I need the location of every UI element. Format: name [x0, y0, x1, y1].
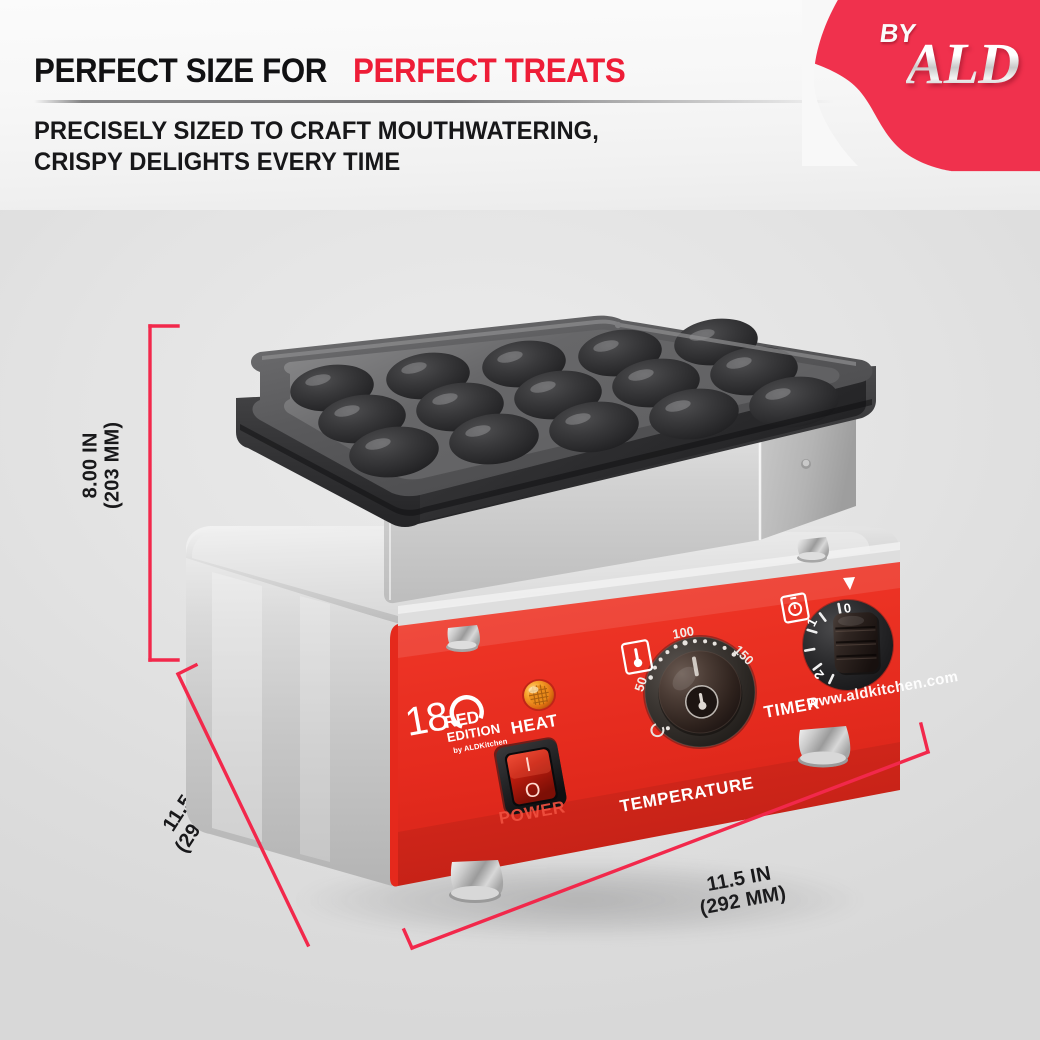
brand-badge: BY ALD — [802, 0, 1040, 182]
infographic-canvas: 18 RED EDITION by ALDKitchen — [0, 0, 1040, 1040]
brand-ald-text: ALD — [906, 30, 1019, 97]
